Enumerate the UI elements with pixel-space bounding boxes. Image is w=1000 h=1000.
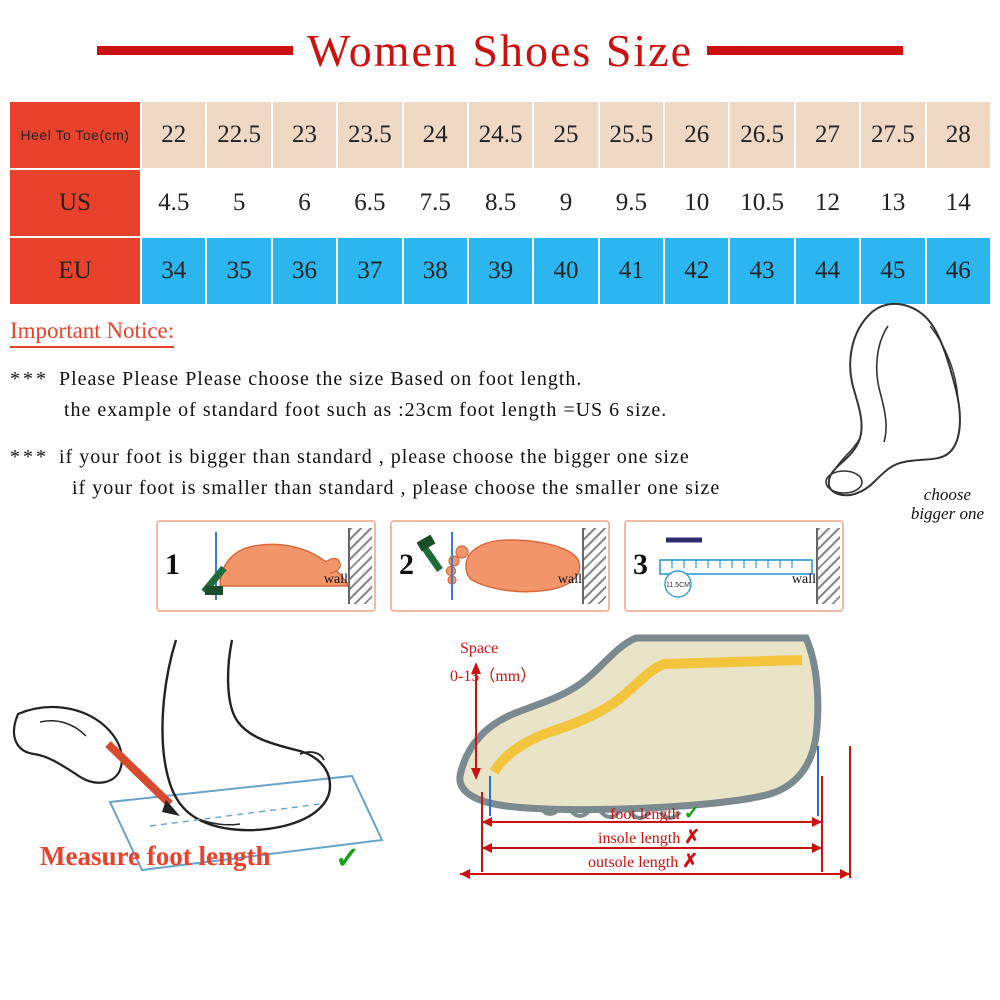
- row-header-heel-to-toe: Heel To Toe(cm): [9, 101, 141, 169]
- cell-us-11: 13: [860, 169, 925, 237]
- cell-us-10: 12: [795, 169, 860, 237]
- space-label-line-2: 0-15（mm）: [450, 662, 536, 686]
- step-3-wall-hatch: [816, 528, 840, 604]
- cell-cm-8: 26: [664, 101, 729, 169]
- cell-cm-2: 23: [272, 101, 337, 169]
- length-label-outsole: outsole length ✗: [588, 850, 698, 873]
- table-row-us: US 4.5 5 6 6.5 7.5 8.5 9 9.5 10 10.5 12 …: [9, 169, 991, 237]
- cell-cm-6: 25: [533, 101, 598, 169]
- cell-us-0: 4.5: [141, 169, 206, 237]
- cell-cm-10: 27: [795, 101, 860, 169]
- cell-us-6: 9: [533, 169, 598, 237]
- step-1-wall-hatch: [348, 528, 372, 604]
- step-1-wall-label: wall: [324, 572, 348, 588]
- cell-cm-11: 27.5: [860, 101, 925, 169]
- cell-eu-4: 38: [403, 237, 468, 305]
- bottom-illustrations: Measure foot length ✓: [0, 626, 1000, 886]
- cell-cm-9: 26.5: [729, 101, 794, 169]
- shoe-cross-section-panel: Space 0-15（mm） foot length ✓ insole leng…: [420, 626, 1000, 886]
- step-3-ruler-icon: 11.5CM: [626, 522, 842, 610]
- row-header-eu: EU: [9, 237, 141, 305]
- title-rule-right: [707, 46, 903, 55]
- foot-length-check-icon: ✓: [684, 803, 700, 824]
- cell-eu-5: 39: [468, 237, 533, 305]
- step-box-3: 3 11.5CM wall: [624, 520, 844, 612]
- length-label-foot: foot length ✓: [610, 802, 700, 825]
- cell-eu-2: 36: [272, 237, 337, 305]
- cell-cm-3: 23.5: [337, 101, 402, 169]
- cell-eu-0: 34: [141, 237, 206, 305]
- cell-us-4: 7.5: [403, 169, 468, 237]
- step-box-2: 2 wall: [390, 520, 610, 612]
- measure-foot-panel: Measure foot length ✓: [0, 626, 420, 886]
- cell-cm-4: 24: [403, 101, 468, 169]
- cell-us-7: 9.5: [599, 169, 664, 237]
- cell-cm-0: 22: [141, 101, 206, 169]
- notice-text-1: Please Please Please choose the size Bas…: [59, 368, 582, 390]
- cell-us-12: 14: [926, 169, 992, 237]
- foot-caption-line-2: bigger one: [911, 504, 984, 524]
- length-label-insole: insole length ✗: [598, 826, 700, 849]
- cell-eu-6: 40: [533, 237, 598, 305]
- cell-eu-8: 42: [664, 237, 729, 305]
- step-2-foot-sole-icon: [392, 522, 608, 610]
- foot-illustration-caption: choose bigger one: [911, 485, 984, 524]
- step-3-wall-label: wall: [792, 572, 816, 588]
- cell-cm-7: 25.5: [599, 101, 664, 169]
- cell-us-9: 10.5: [729, 169, 794, 237]
- notice-text-3: if your foot is bigger than standard , p…: [59, 446, 690, 468]
- cell-us-3: 6.5: [337, 169, 402, 237]
- size-chart-table: Heel To Toe(cm) 22 22.5 23 23.5 24 24.5 …: [8, 100, 992, 306]
- row-header-us: US: [9, 169, 141, 237]
- insole-length-cross-icon: ✗: [684, 827, 700, 848]
- length-text-insole: insole length: [598, 830, 680, 847]
- outsole-length-cross-icon: ✗: [682, 851, 698, 872]
- cell-cm-12: 28: [926, 101, 992, 169]
- cell-cm-1: 22.5: [206, 101, 271, 169]
- notice-stars-1: ***: [10, 368, 49, 390]
- foot-caption-line-1: choose: [911, 485, 984, 505]
- step-1-foot-side-icon: [158, 522, 374, 610]
- page-title: Women Shoes Size: [307, 24, 693, 77]
- title-rule-left: [97, 46, 293, 55]
- space-label-line-1: Space: [460, 640, 498, 658]
- cell-us-2: 6: [272, 169, 337, 237]
- cell-us-5: 8.5: [468, 169, 533, 237]
- table-row-heel-to-toe: Heel To Toe(cm) 22 22.5 23 23.5 24 24.5 …: [9, 101, 991, 169]
- step-2-wall-hatch: [582, 528, 606, 604]
- cell-eu-7: 41: [599, 237, 664, 305]
- step-3-ruler-value: 11.5CM: [666, 582, 690, 589]
- step-box-1: 1 wall: [156, 520, 376, 612]
- cell-cm-5: 24.5: [468, 101, 533, 169]
- length-text-outsole: outsole length: [588, 854, 678, 871]
- foot-outline-illustration: choose bigger one: [780, 286, 990, 526]
- length-text-foot: foot length: [610, 806, 680, 823]
- cell-us-8: 10: [664, 169, 729, 237]
- measure-steps-strip: 1 wall 2 wall 3: [0, 520, 1000, 612]
- cell-eu-3: 37: [337, 237, 402, 305]
- notice-stars-2: ***: [10, 446, 49, 468]
- cell-us-1: 5: [206, 169, 271, 237]
- page-title-bar: Women Shoes Size: [0, 0, 1000, 100]
- important-notice-section: Important Notice: ***Please Please Pleas…: [0, 306, 1000, 504]
- notice-heading: Important Notice:: [10, 318, 174, 348]
- cell-eu-1: 35: [206, 237, 271, 305]
- step-2-wall-label: wall: [558, 572, 582, 588]
- measure-check-icon: ✓: [335, 841, 360, 876]
- measure-foot-caption: Measure foot length: [40, 841, 270, 872]
